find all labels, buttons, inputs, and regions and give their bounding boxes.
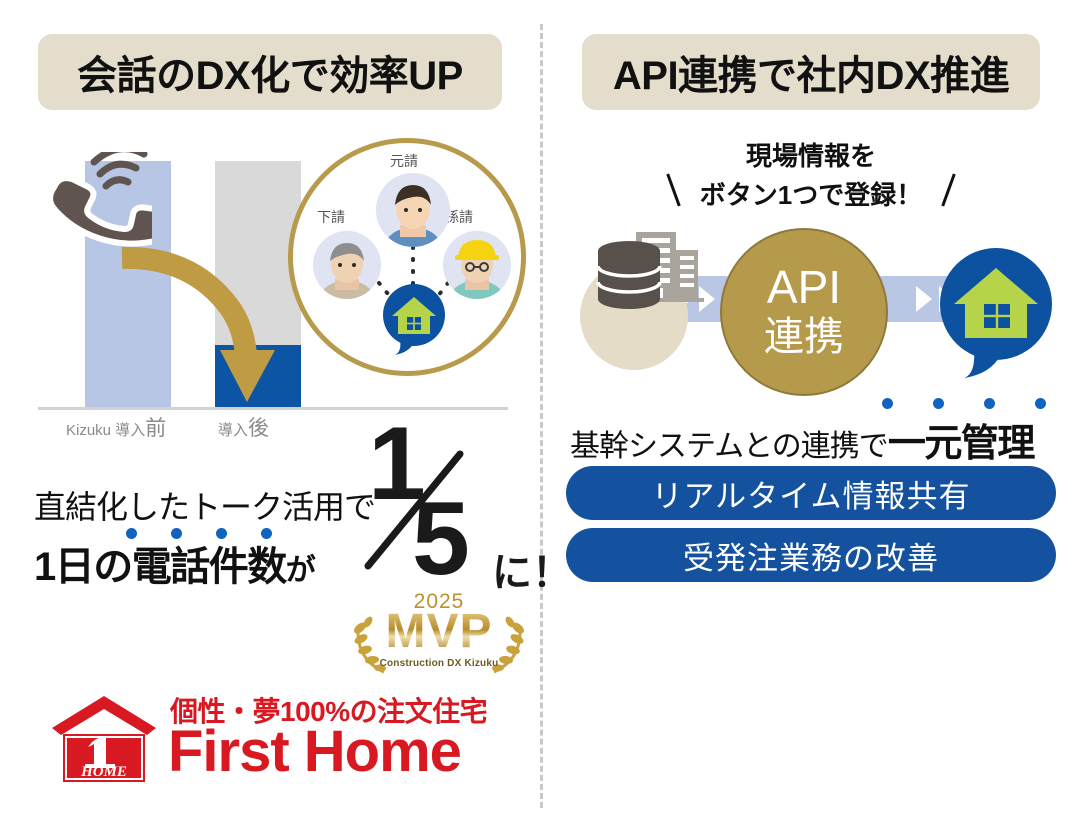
avatar-second-tier-contractor [443,231,511,299]
api-integration-circle: API 連携 [720,228,888,396]
bar-label-before-big: 前 [145,417,166,440]
avatar-subcontractor [313,231,381,299]
database-cylinder-icon [596,240,662,310]
left-statement: 直結化したトーク活用で 1日の電話件数が [34,482,364,592]
callout-line2: ボタン1つで登録！ [676,175,946,212]
first-home-logo: HOME 個性・夢100%の注文住宅 First Home [48,688,508,788]
svg-text:HOME: HOME [80,764,127,780]
infographic-root: 会話のDX化で効率UP Kizuku 導入前 導入後 [0,0,1080,830]
right-panel-header: API連携で社内DX推進 [582,34,1040,110]
right-panel: API連携で社内DX推進 現場情報を ボタン1つで登録！ [540,0,1080,830]
first-home-name: First Home [168,718,461,785]
mvp-badge-left: 2025 MVP Construction DX Kizuku [354,590,524,680]
callout-slash-left-icon [666,174,680,207]
bar-label-after-big: 後 [248,417,269,440]
bar-label-after-small: 導入 [218,422,248,439]
feature-pill-ordering-label: 受発注業務の改善 [683,533,939,578]
callout-line1: 現場情報を [676,136,946,173]
fraction-denominator: 5 [412,487,470,591]
bar-label-before-small: Kizuku 導入 [66,422,145,439]
left-panel-header: 会話のDX化で効率UP [38,34,502,110]
feature-pill-realtime-label: リアルタイム情報共有 [651,471,970,516]
left-statement-line2: 1日の電話件数が [34,534,364,592]
house-chat-bubble-icon [934,246,1058,378]
callout-slash-right-icon [941,174,955,207]
api-label-main: API [767,264,841,310]
fraction-one-fifth: 1 5 に！ [350,412,540,587]
left-panel: 会話のDX化で効率UP Kizuku 導入前 導入後 [0,0,540,830]
left-header-text: 会話のDX化で効率UP [77,43,463,101]
right-statement: 基幹システムとの連携で一元管理 [570,412,1060,467]
network-caption-top: 元請 [390,151,418,171]
right-header-text: API連携で社内DX推進 [613,43,1009,101]
api-flow-diagram: API 連携 [566,218,1058,390]
network-caption-left: 下請 [317,207,345,227]
mvp-title: MVP [354,608,524,656]
register-callout: 現場情報を ボタン1つで登録！ [676,136,946,212]
callout-line2-text: ボタン1つで登録！ [700,180,922,210]
left-statement-line2-tail: が [286,554,315,587]
avatar-prime-contractor [376,173,450,247]
right-arrow-icon [916,286,932,312]
emphasis-dots-right [882,398,1046,409]
right-statement-bold: 一元管理 [888,423,1034,465]
right-statement-normal: 基幹システムとの連携で [570,430,888,463]
feature-pill-ordering[interactable]: 受発注業務の改善 [566,528,1056,582]
stakeholder-network-diagram: 元請 下請 孫請 [288,138,526,376]
api-label-sub: 連携 [764,314,844,360]
first-home-house-mark-icon: HOME [48,694,160,786]
house-chat-bubble-icon [378,283,450,355]
mvp-subtitle: Construction DX Kizuku [354,658,524,669]
feature-pill-realtime[interactable]: リアルタイム情報共有 [566,466,1056,520]
left-statement-line2-main: 1日の電話件数 [34,545,286,589]
left-statement-line1: 直結化したトーク活用で [34,482,364,528]
